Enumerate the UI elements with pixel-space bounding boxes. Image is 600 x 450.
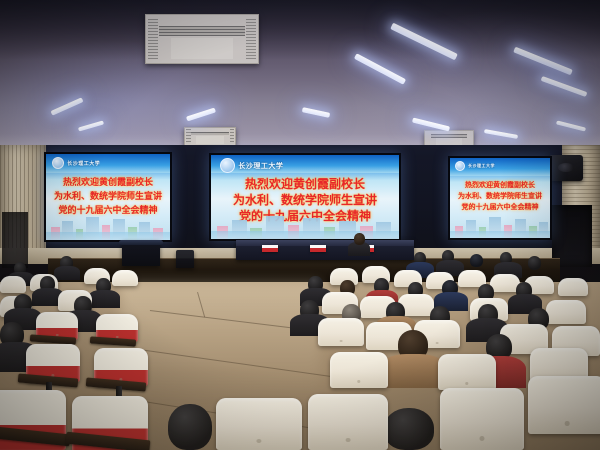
slatted-ceiling <box>0 0 600 152</box>
left-led-screen: 长沙理工大学 热烈欢迎黄创霞副校长 为水利、数统学院师生宣讲 党的十九届六中全会… <box>44 152 172 242</box>
audience-shoulders <box>54 266 80 280</box>
audience-head <box>528 256 541 270</box>
equipment-rack <box>176 250 194 268</box>
audience-shoulders <box>380 354 446 388</box>
auditorium-seat[interactable] <box>0 276 26 293</box>
name-placard <box>310 245 326 252</box>
auditorium-photo: 长沙理工大学 热烈欢迎黄创霞副校长 为水利、数统学院师生宣讲 党的十九届六中全会… <box>0 0 600 450</box>
audience-head <box>470 254 483 267</box>
auditorium-seat[interactable] <box>528 376 600 434</box>
auditorium-seat[interactable] <box>318 318 364 346</box>
ceiling-ac-unit <box>145 14 259 64</box>
auditorium-seat[interactable] <box>112 270 138 286</box>
audience-head <box>384 408 434 450</box>
right-led-screen: 长沙理工大学 热烈欢迎黄创霞副校长 为水利、数统学院师生宣讲 党的十九届六中全会… <box>448 156 552 240</box>
lectern <box>122 240 160 266</box>
side-doorway <box>2 212 28 268</box>
auditorium-seat[interactable] <box>216 398 302 450</box>
ceiling-ac-unit <box>184 127 236 146</box>
speaker-head <box>354 233 365 245</box>
audience-head <box>168 404 212 450</box>
ceiling-light-fixture <box>302 107 330 118</box>
wall-speaker <box>549 155 583 181</box>
auditorium-seat[interactable] <box>440 388 524 450</box>
center-led-screen: 长沙理工大学 热烈欢迎黄创霞副校长 为水利、数统学院师生宣讲 党的十九届六中全会… <box>209 153 401 241</box>
auditorium-seat[interactable] <box>438 354 496 390</box>
audience-shoulders <box>88 290 120 308</box>
auditorium-seat[interactable] <box>558 278 588 296</box>
auditorium-seat[interactable] <box>308 394 388 450</box>
auditorium-seat[interactable] <box>330 352 388 388</box>
auditorium-seat[interactable] <box>546 300 586 324</box>
name-placard <box>262 245 278 252</box>
